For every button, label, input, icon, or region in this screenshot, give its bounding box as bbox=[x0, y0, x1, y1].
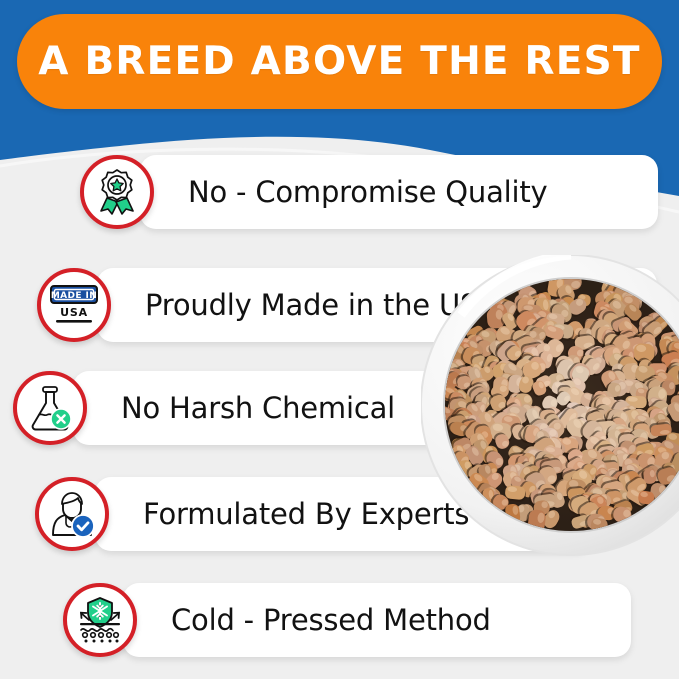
page-title: A BREED ABOVE THE REST bbox=[38, 42, 640, 81]
feature-label: No - Compromise Quality bbox=[188, 175, 548, 209]
feature-label: No Harsh Chemical bbox=[121, 391, 395, 425]
kibble-bowl-image bbox=[421, 255, 679, 565]
svg-text:USA: USA bbox=[60, 306, 88, 319]
cold-pressed-shield-icon bbox=[63, 583, 137, 657]
feature-label: Cold - Pressed Method bbox=[171, 603, 491, 637]
flask-no-chemical-icon bbox=[13, 371, 87, 445]
infographic-canvas: A BREED ABOVE THE REST bbox=[0, 0, 679, 679]
award-rosette-icon bbox=[80, 155, 154, 229]
feature-row-cold-pressed[interactable]: Cold - Pressed Method bbox=[123, 583, 631, 657]
header-banner: A BREED ABOVE THE REST bbox=[17, 14, 662, 109]
made-in-usa-icon: MADE IN USA bbox=[37, 268, 111, 342]
expert-doctor-icon bbox=[35, 477, 109, 551]
feature-row-quality[interactable]: No - Compromise Quality bbox=[140, 155, 658, 229]
svg-text:MADE IN: MADE IN bbox=[51, 291, 97, 301]
